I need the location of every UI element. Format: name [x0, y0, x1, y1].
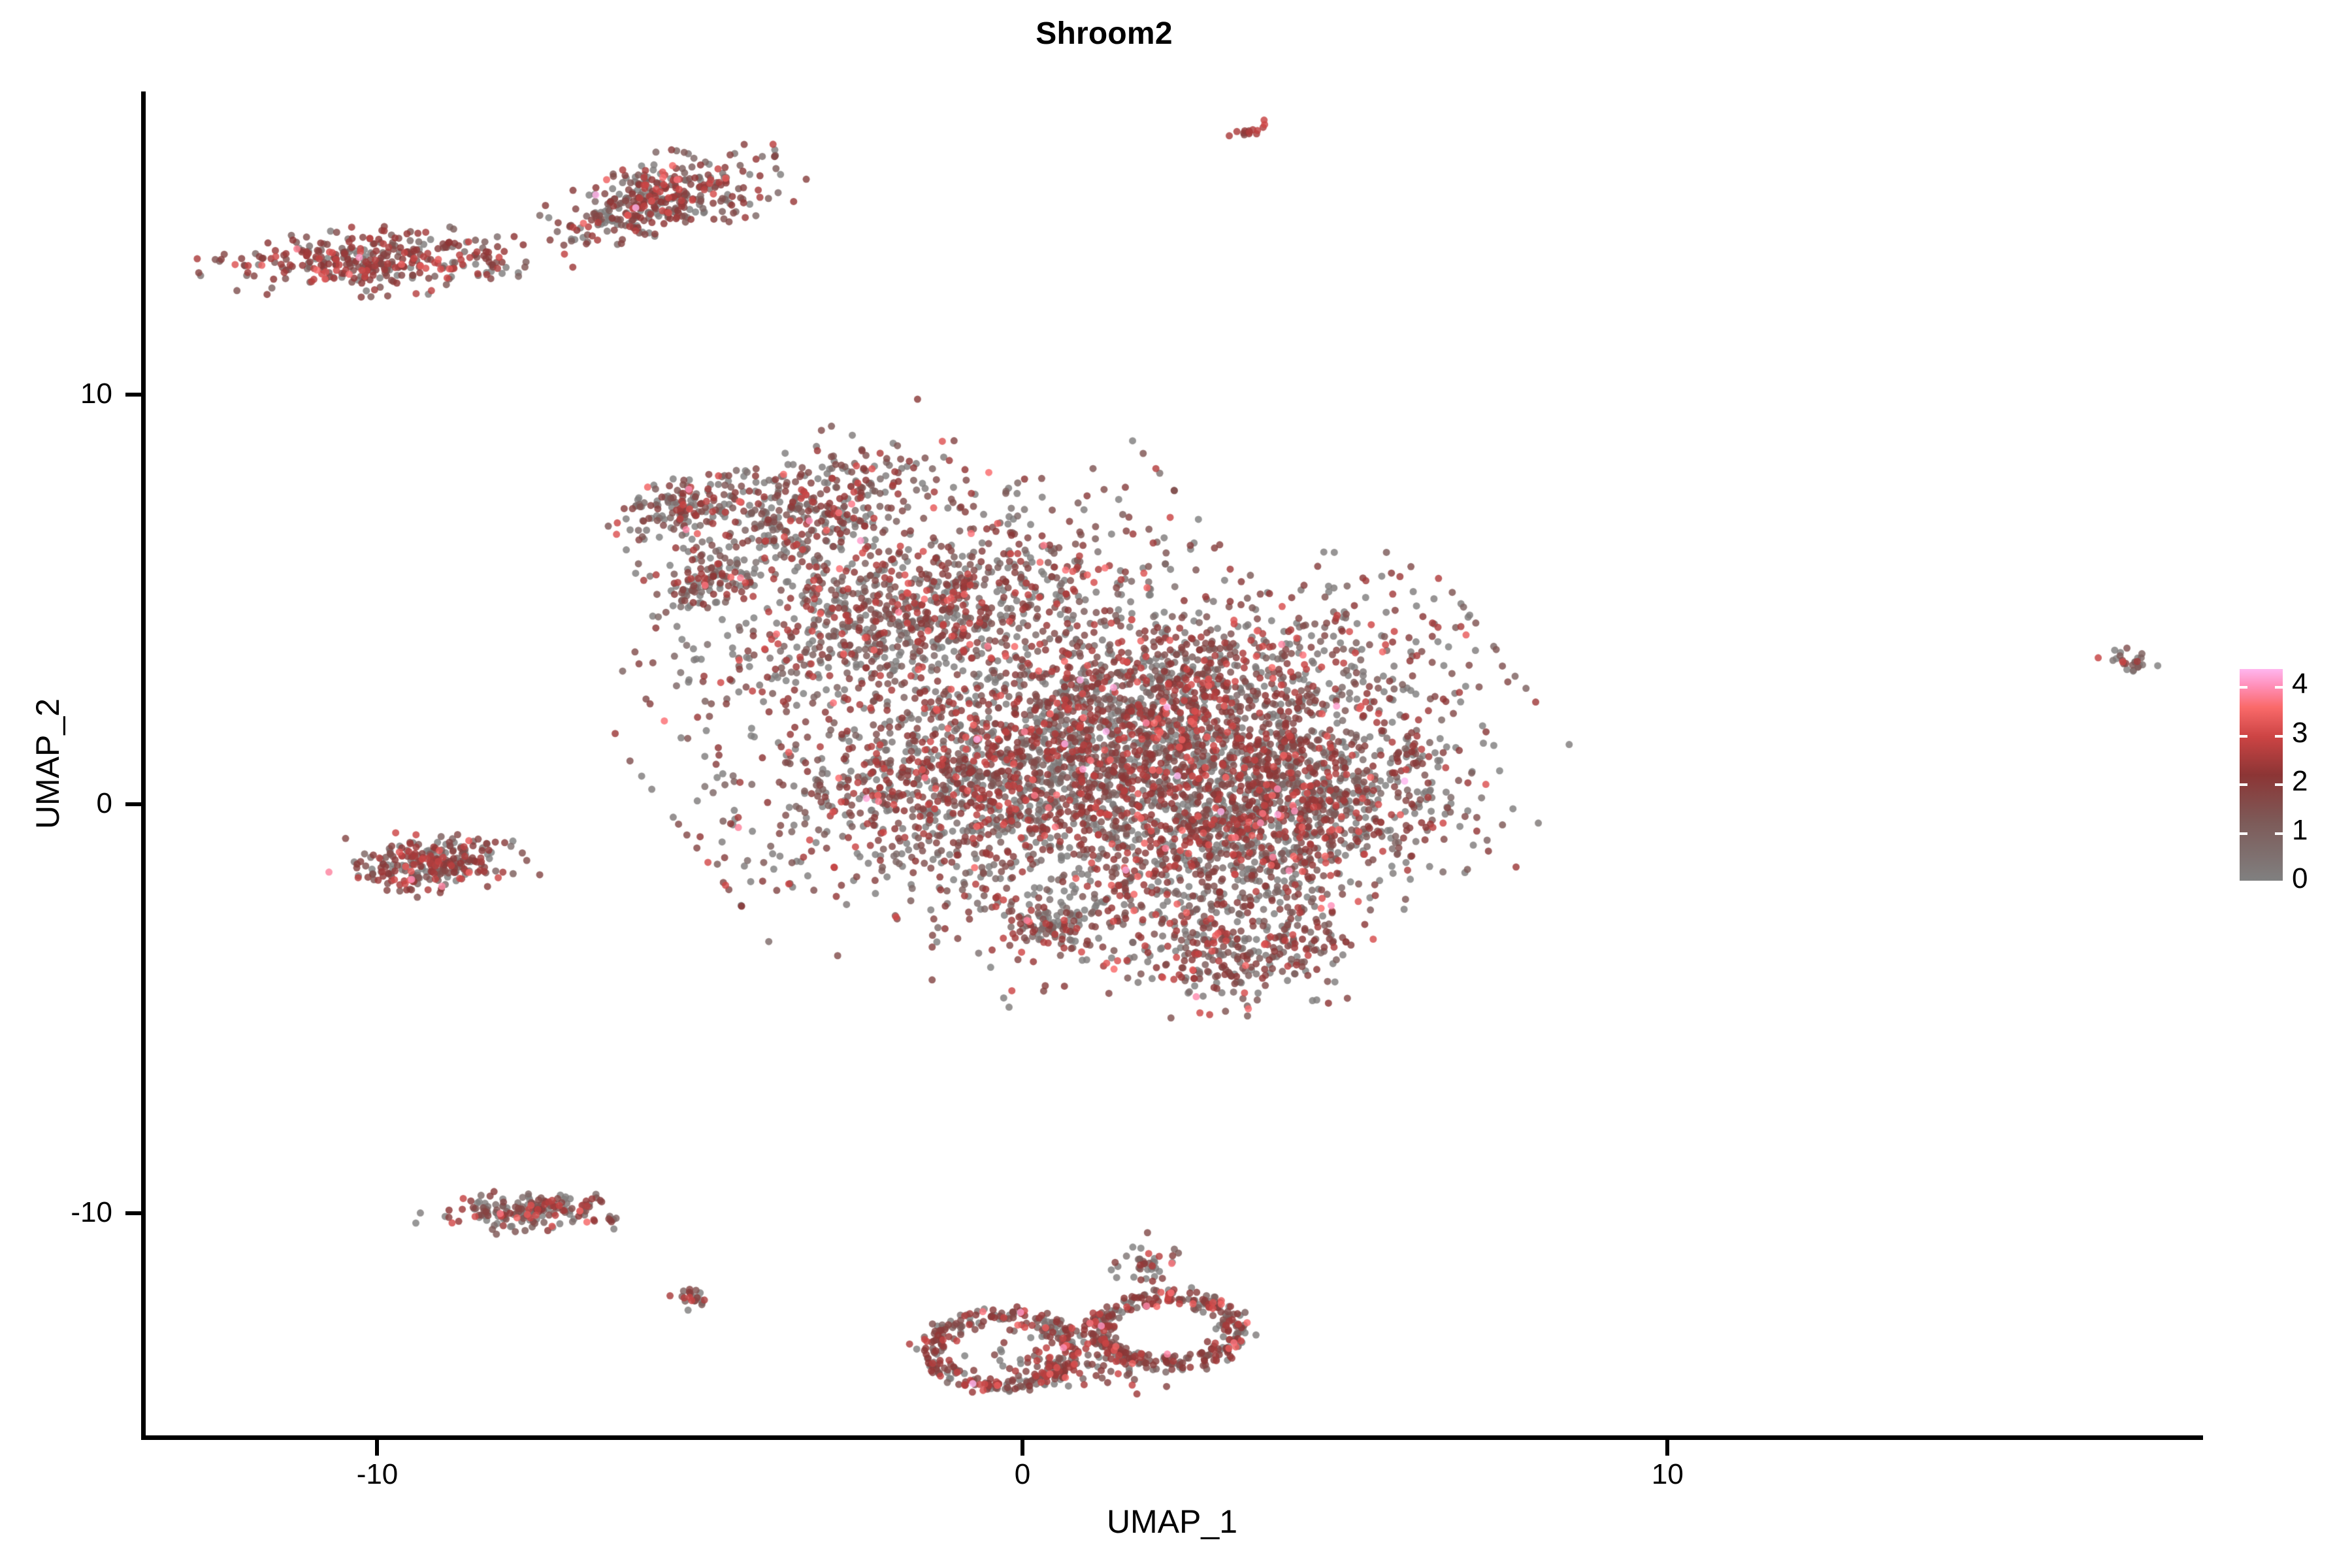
legend-tick-mark: [2240, 783, 2247, 786]
legend-tick-mark: [2240, 735, 2247, 738]
x-tick-label: 10: [1595, 1458, 1739, 1491]
color-legend[interactable]: 01234: [2234, 660, 2345, 895]
x-tick-mark: [1665, 1440, 1669, 1456]
y-tick-mark: [125, 1211, 141, 1215]
legend-tick-mark: [2275, 881, 2283, 883]
legend-tick-mark: [2275, 783, 2283, 786]
legend-colorbar: [2240, 669, 2283, 881]
x-tick-mark: [1021, 1440, 1024, 1456]
umap-feature-plot: Shroom2 -10010-10010 UMAP_1 UMAP_2 01234: [0, 0, 2352, 1568]
x-axis-title: UMAP_1: [141, 1503, 2203, 1541]
legend-tick-mark: [2240, 881, 2247, 883]
page-title: Shroom2: [0, 16, 2208, 52]
y-tick-label: -10: [0, 1196, 112, 1229]
y-tick-mark: [125, 393, 141, 397]
legend-label: 3: [2292, 719, 2308, 747]
legend-label: 2: [2292, 767, 2308, 796]
y-tick-mark: [125, 802, 141, 806]
legend-tick-mark: [2275, 686, 2283, 689]
legend-tick-mark: [2275, 735, 2283, 738]
y-axis-line: [141, 91, 146, 1440]
legend-tick-mark: [2240, 832, 2247, 835]
x-tick-label: -10: [305, 1458, 449, 1491]
x-axis-line: [141, 1435, 2203, 1440]
legend-tick-mark: [2240, 686, 2247, 689]
legend-label: 0: [2292, 864, 2308, 893]
x-tick-label: 0: [951, 1458, 1094, 1491]
y-axis-title: UMAP_2: [29, 378, 67, 1149]
scatter-plot-canvas[interactable]: [145, 91, 2203, 1439]
legend-label: 1: [2292, 816, 2308, 845]
x-tick-mark: [375, 1440, 379, 1456]
legend-tick-mark: [2275, 832, 2283, 835]
legend-label: 4: [2292, 670, 2308, 698]
